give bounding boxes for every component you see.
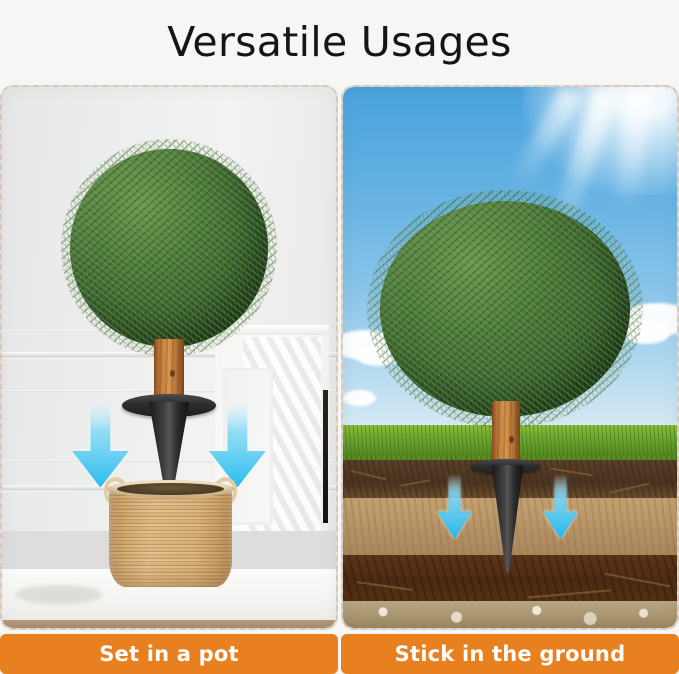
caption-bar-stick-in-the-ground[interactable]: Stick in the ground xyxy=(341,634,679,674)
wicker-basket xyxy=(106,477,236,588)
soil-layer-gravel xyxy=(343,601,677,628)
topiary-ball-indoor xyxy=(70,149,267,346)
down-arrow-left-indoor xyxy=(72,401,129,488)
title-bar: Versatile Usages xyxy=(0,0,679,85)
topiary-ball-outdoor xyxy=(380,201,631,417)
caption-bar-set-in-a-pot[interactable]: Set in a pot xyxy=(0,634,338,674)
tree-trunk-outdoor xyxy=(492,401,520,466)
rug-shadow xyxy=(15,585,102,604)
indoor-scene-photo xyxy=(2,87,336,628)
photo-frame-indoor xyxy=(0,85,338,630)
page-title: Versatile Usages xyxy=(167,22,511,63)
cloud-right-lower xyxy=(624,322,671,344)
outdoor-scene-photo xyxy=(343,87,677,628)
panels-container: Set in a pot xyxy=(0,85,679,674)
down-arrow-right-outdoor xyxy=(543,474,578,539)
infographic-root: Versatile Usages xyxy=(0,0,679,674)
photo-frame-outdoor xyxy=(341,85,679,630)
down-arrow-right-indoor xyxy=(209,401,266,488)
caption-label-stick-in-the-ground: Stick in the ground xyxy=(395,642,626,666)
caption-label-set-in-a-pot: Set in a pot xyxy=(99,642,239,666)
panel-stick-in-the-ground: Stick in the ground xyxy=(341,85,679,674)
floor-edge-strip xyxy=(2,620,336,628)
trunk-knot-outdoor xyxy=(509,436,514,443)
fireplace-mantel-top xyxy=(219,325,329,335)
trunk-knot xyxy=(170,370,175,377)
down-arrow-left-outdoor xyxy=(437,474,472,539)
basket-body xyxy=(109,485,231,587)
dark-wall-gap xyxy=(323,390,328,523)
panel-set-in-a-pot: Set in a pot xyxy=(0,85,338,674)
